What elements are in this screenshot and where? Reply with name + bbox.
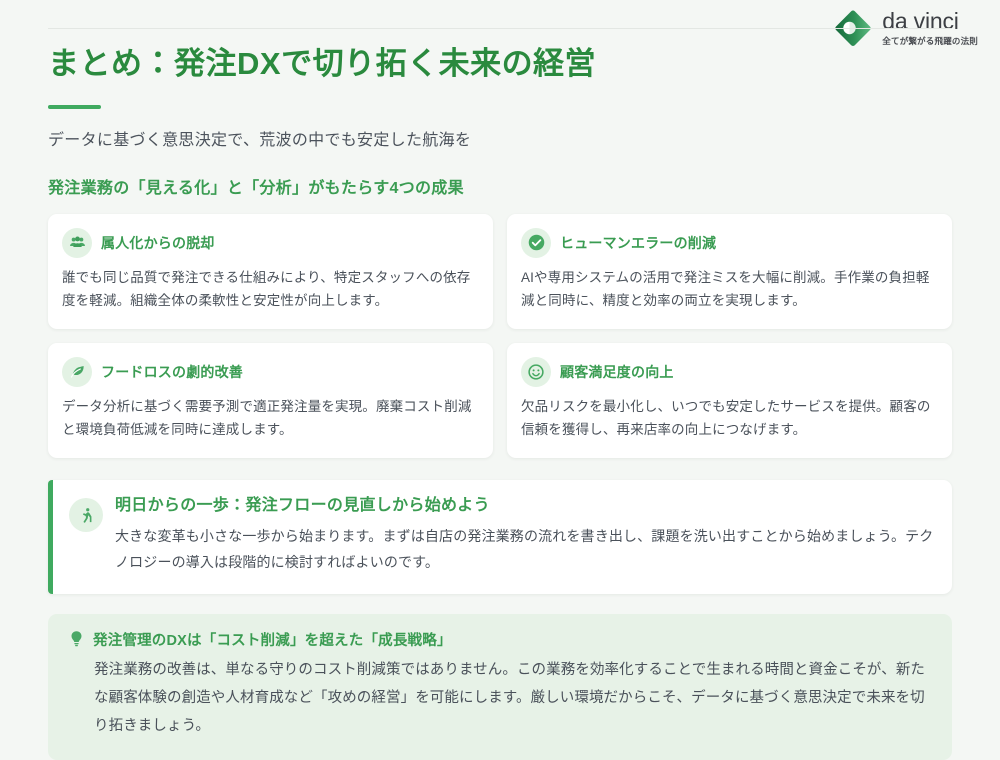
benefit-card: 属人化からの脱却 誰でも同じ品質で発注できる仕組みにより、特定スタッフへの依存度… <box>48 214 493 329</box>
title-accent-bar <box>48 105 101 109</box>
smiley-face-icon <box>521 357 551 387</box>
panel-body: 発注業務の改善は、単なる守りのコスト削減策ではありません。この業務を効率化するこ… <box>94 656 930 741</box>
benefit-card: ヒューマンエラーの削減 AIや専用システムの活用で発注ミスを大幅に削減。手作業の… <box>507 214 952 329</box>
benefit-card: 顧客満足度の向上 欠品リスクを最小化し、いつでも安定したサービスを提供。顧客の信… <box>507 343 952 458</box>
benefit-card-grid: 属人化からの脱却 誰でも同じ品質で発注できる仕組みにより、特定スタッフへの依存度… <box>48 214 952 459</box>
users-group-icon <box>62 228 92 258</box>
panel-title: 発注管理のDXは「コスト削減」を超えた「成長戦略」 <box>93 629 452 650</box>
next-step-callout: 明日からの一歩：発注フローの見直しから始めよう 大きな変革も小さな一歩から始まり… <box>48 480 952 594</box>
card-header: 属人化からの脱却 <box>62 228 477 258</box>
slide-content: まとめ：発注DXで切り拓く未来の経営 データに基づく意思決定で、荒波の中でも安定… <box>48 0 952 760</box>
panel-header: 発注管理のDXは「コスト削減」を超えた「成長戦略」 <box>68 629 930 650</box>
card-body: 欠品リスクを最小化し、いつでも安定したサービスを提供。顧客の信頼を獲得し、再来店… <box>521 395 936 442</box>
card-body: 誰でも同じ品質で発注できる仕組みにより、特定スタッフへの依存度を軽減。組織全体の… <box>62 266 477 313</box>
card-title: フードロスの劇的改善 <box>101 362 243 382</box>
check-circle-icon <box>521 228 551 258</box>
summary-panel: 発注管理のDXは「コスト削減」を超えた「成長戦略」 発注業務の改善は、単なる守り… <box>48 614 952 760</box>
card-header: 顧客満足度の向上 <box>521 357 936 387</box>
header-divider <box>48 28 952 29</box>
card-title: 属人化からの脱却 <box>101 233 215 253</box>
card-header: ヒューマンエラーの削減 <box>521 228 936 258</box>
callout-body: 大きな変革も小さな一歩から始まります。まずは自店の発注業務の流れを書き出し、課題… <box>115 524 934 576</box>
callout-title: 明日からの一歩：発注フローの見直しから始めよう <box>115 496 934 517</box>
card-body: AIや専用システムの活用で発注ミスを大幅に削減。手作業の負担軽減と同時に、精度と… <box>521 266 936 313</box>
page-subtitle: データに基づく意思決定で、荒波の中でも安定した航海を <box>48 126 952 150</box>
card-title: 顧客満足度の向上 <box>560 362 674 382</box>
lightbulb-icon <box>68 630 85 648</box>
benefit-card: フードロスの劇的改善 データ分析に基づく需要予測で適正発注量を実現。廃棄コスト削… <box>48 343 493 458</box>
card-body: データ分析に基づく需要予測で適正発注量を実現。廃棄コスト削減と環境負荷低減を同時… <box>62 395 477 442</box>
card-title: ヒューマンエラーの削減 <box>560 233 716 253</box>
page-title: まとめ：発注DXで切り拓く未来の経営 <box>48 45 952 84</box>
walking-person-icon <box>69 498 103 532</box>
section-heading: 発注業務の「見える化」と「分析」がもたらす4つの成果 <box>48 174 952 198</box>
card-header: フードロスの劇的改善 <box>62 357 477 387</box>
leaf-icon <box>62 357 92 387</box>
